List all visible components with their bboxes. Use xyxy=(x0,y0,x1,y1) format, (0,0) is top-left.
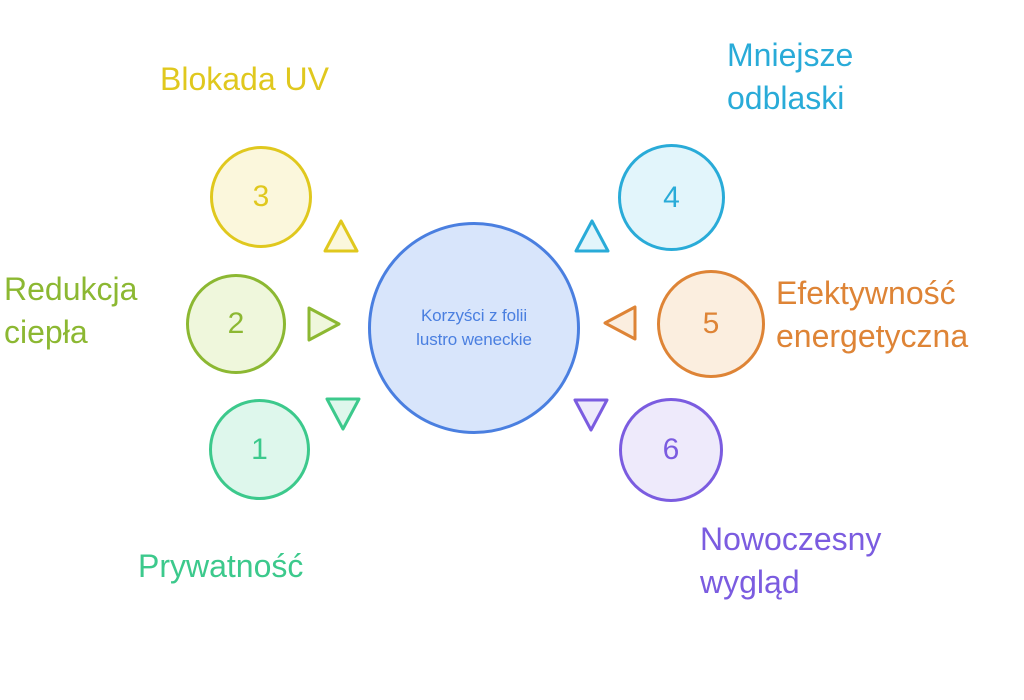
triangle-down-icon-node-6 xyxy=(572,397,610,433)
node-label-redukcja-ciepla: Redukcja ciepła xyxy=(4,268,137,354)
triangle-right-icon-node-2 xyxy=(306,305,342,343)
hub-circle[interactable]: Korzyści z folii lustro weneckie xyxy=(368,222,580,434)
triangle-up-icon-node-3 xyxy=(322,218,360,254)
node-circle-2[interactable]: 2 xyxy=(186,274,286,374)
node-label-efektywnosc-energetyczna: Efektywność energetyczna xyxy=(776,272,968,358)
triangle-up-icon-node-4 xyxy=(573,218,611,254)
node-number-6: 6 xyxy=(663,435,680,465)
node-number-2: 2 xyxy=(228,309,245,339)
node-label-blokada-uv: Blokada UV xyxy=(160,58,329,101)
node-label-mniejsze-odblaski: Mniejsze odblaski xyxy=(727,34,853,120)
hub-label: Korzyści z folii lustro weneckie xyxy=(416,304,532,352)
node-number-5: 5 xyxy=(703,309,720,339)
node-label-nowoczesny-wyglad: Nowoczesny wygląd xyxy=(700,518,881,604)
node-label-prywatnosc: Prywatność xyxy=(138,545,303,588)
node-circle-5[interactable]: 5 xyxy=(657,270,765,378)
node-number-3: 3 xyxy=(253,182,270,212)
diagram-canvas: Blokada UV Redukcja ciepła Prywatność Mn… xyxy=(0,0,1024,700)
node-circle-6[interactable]: 6 xyxy=(619,398,723,502)
node-circle-4[interactable]: 4 xyxy=(618,144,725,251)
node-number-1: 1 xyxy=(251,435,268,465)
triangle-down-icon-node-1 xyxy=(324,396,362,432)
node-number-4: 4 xyxy=(663,183,680,213)
node-circle-1[interactable]: 1 xyxy=(209,399,310,500)
node-circle-3[interactable]: 3 xyxy=(210,146,312,248)
triangle-left-icon-node-5 xyxy=(602,304,638,342)
